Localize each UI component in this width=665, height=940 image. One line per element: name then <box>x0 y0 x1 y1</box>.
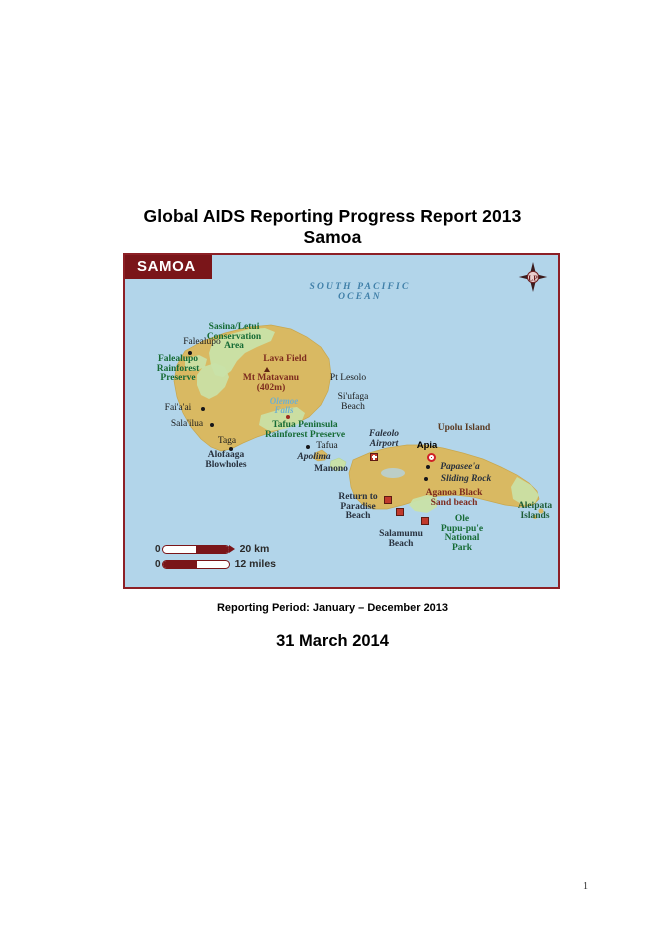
map-label-faleolo-airport: FaleoloAirport <box>360 430 408 449</box>
compass-rose-icon: LP <box>518 261 548 293</box>
map-label-return-to-paradise: Return toParadiseBeach <box>330 493 386 522</box>
map-label-line: Falls <box>260 406 308 415</box>
map-label-line: Beach <box>370 540 432 550</box>
map-label-line: Upolu Island <box>430 424 498 434</box>
scale-km-row: 0 20 km <box>155 543 276 555</box>
scale-miles-zero: 0 <box>155 559 161 570</box>
scale-miles-bar <box>162 560 230 569</box>
beach-return-icon <box>384 496 392 504</box>
svg-text:LP: LP <box>528 273 538 282</box>
map-label-line: Tafua <box>311 442 343 452</box>
map-label-lava-field: Lava Field <box>255 355 315 365</box>
map-label-siufaga-beach: Si'ufagaBeach <box>329 393 377 412</box>
map-label-line: Sliding Rock <box>433 475 499 485</box>
map-label-line: Preserve <box>142 374 214 384</box>
page-number: 1 <box>583 881 588 892</box>
map-label-line: Apolima <box>290 453 338 463</box>
map-label-pt-lesolo: Pt Lesolo <box>321 374 375 384</box>
map-label-alofaaga-blowholes: AlofaagaBlowholes <box>195 451 257 470</box>
map-label-ole-pupupue: OlePupu-pu'eNationalPark <box>431 515 493 554</box>
scale-miles-row: 0 12 miles <box>155 558 276 570</box>
dot-papaseea-icon <box>426 465 430 469</box>
map-label-line: Sala'ilua <box>163 420 211 430</box>
map-label-line: Rainforest Preserve <box>256 431 354 441</box>
map-label-tafua-peninsula: Tafua PeninsulaRainforest Preserve <box>256 421 354 440</box>
map-label-aganoa-black-sand: Aganoa BlackSand beach <box>417 489 491 508</box>
map-label-line: Taga <box>211 437 243 447</box>
map-label-line: Pt Lesolo <box>321 374 375 384</box>
map-label-mt-matavanu: Mt Matavanu(402m) <box>233 374 309 393</box>
map-label-manono: Manono <box>307 465 355 475</box>
dot-taga-icon <box>229 447 233 451</box>
map-label-line: Fai'a'ai <box>157 404 199 414</box>
map-label-line: Beach <box>330 512 386 522</box>
ocean-label-line-2: OCEAN <box>285 293 435 303</box>
beach-lefaga-icon <box>396 508 404 516</box>
apia-capital-icon <box>427 453 436 462</box>
dot-slidingrock-icon <box>424 477 428 481</box>
map-label-line: Apia <box>412 441 442 451</box>
map-label-line: Area <box>197 342 271 352</box>
dot-salailua-icon <box>210 423 214 427</box>
map-banner-title: SAMOA <box>125 255 212 279</box>
map-label-sliding-rock: Sliding Rock <box>433 475 499 485</box>
scale-miles-label: 12 miles <box>235 558 276 570</box>
map-label-line: Lava Field <box>255 355 315 365</box>
scale-km-label: 20 km <box>240 543 270 555</box>
map-label-line: Islands <box>510 512 560 522</box>
map-label-papaseea: Papasee'a <box>433 463 487 473</box>
map-label-line: Papasee'a <box>433 463 487 473</box>
map-label-sasina-letui: Sasina/LetuiConservationArea <box>197 323 271 352</box>
map-scale: 0 20 km 0 12 miles <box>155 543 276 573</box>
map-label-falealupo-rainforest: FalealupoRainforestPreserve <box>142 355 214 384</box>
dot-falealupo-icon <box>188 351 192 355</box>
dot-tafua-icon <box>306 445 310 449</box>
map-label-line: Sand beach <box>417 499 491 509</box>
map-label-upolu-island: Upolu Island <box>430 424 498 434</box>
map-label-salamumu-beach: SalamumuBeach <box>370 530 432 549</box>
map-label-faiaai: Fai'a'ai <box>157 404 199 414</box>
map-label-olemoe-falls: OlemoeFalls <box>260 397 308 415</box>
map-label-apolima: Apolima <box>290 453 338 463</box>
map-label-line: Park <box>431 544 493 554</box>
map-label-apia: Apia <box>412 441 442 451</box>
scale-km-zero: 0 <box>155 544 161 555</box>
map-label-tafua: Tafua <box>311 442 343 452</box>
map-label-line: Airport <box>360 440 408 450</box>
map-label-line: Manono <box>307 465 355 475</box>
map-label-aleipata-islands: AleipataIslands <box>510 502 560 521</box>
volcano-matavanu-icon <box>264 367 270 372</box>
beach-salamumu-icon <box>421 517 429 525</box>
title-line-2: Samoa <box>0 227 665 248</box>
title-line-1: Global AIDS Reporting Progress Report 20… <box>0 206 665 227</box>
map-label-salailua: Sala'ilua <box>163 420 211 430</box>
lake-lanotoo <box>381 468 405 478</box>
map-label-line: Beach <box>329 403 377 413</box>
reporting-period-caption: Reporting Period: January – December 201… <box>0 602 665 614</box>
page-title: Global AIDS Reporting Progress Report 20… <box>0 206 665 248</box>
samoa-map-figure: SAMOA SOUTH PACIFIC OCEAN LP 0 20 km 0 1… <box>123 253 560 589</box>
map-label-line: (402m) <box>233 384 309 394</box>
scale-km-bar <box>162 545 230 554</box>
map-label-taga: Taga <box>211 437 243 447</box>
ocean-label: SOUTH PACIFIC OCEAN <box>285 283 435 302</box>
map-label-line: Blowholes <box>195 461 257 471</box>
dot-tafuapen-icon <box>286 415 290 419</box>
report-date-caption: 31 March 2014 <box>0 632 665 651</box>
airport-faleolo-icon <box>370 453 378 461</box>
dot-faiaai-icon <box>201 407 205 411</box>
